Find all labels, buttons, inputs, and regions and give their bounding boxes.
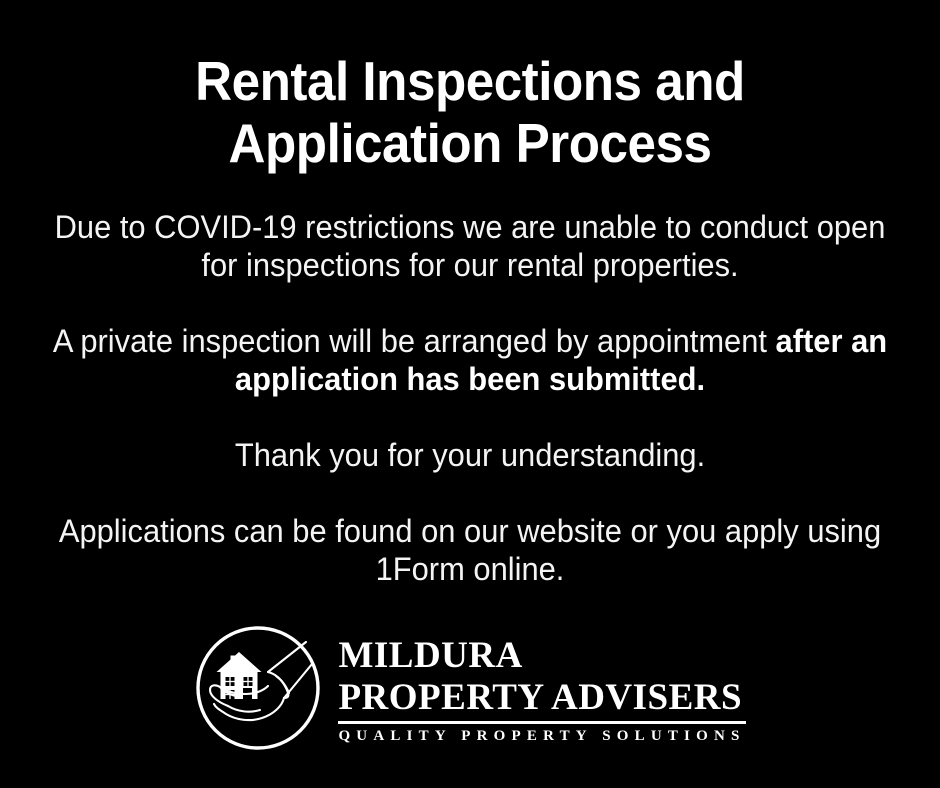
paragraph-private-inspection-regular: A private inspection will be arranged by…: [53, 323, 776, 359]
hand-holding-house-circle-icon: [194, 624, 322, 752]
poster-canvas: Rental Inspections and Application Proce…: [0, 0, 940, 788]
title-line-1: Rental Inspections and: [89, 50, 852, 112]
title-line-2: Application Process: [89, 112, 852, 174]
logo-divider: [338, 721, 745, 724]
body-copy: Due to COVID-19 restrictions we are unab…: [30, 208, 910, 588]
company-logo: MILDURA PROPERTY ADVISERS QUALITY PROPER…: [0, 624, 940, 752]
paragraph-covid-restrictions: Due to COVID-19 restrictions we are unab…: [45, 208, 894, 284]
paragraph-private-inspection: A private inspection will be arranged by…: [45, 322, 894, 398]
logo-name-line-2: PROPERTY ADVISERS: [338, 679, 742, 716]
page-title: Rental Inspections and Application Proce…: [60, 50, 880, 174]
paragraph-thank-you: Thank you for your understanding.: [45, 436, 894, 474]
logo-name-line-1: MILDURA: [338, 637, 522, 674]
logo-tagline: QUALITY PROPERTY SOLUTIONS: [338, 728, 745, 745]
paragraph-applications: Applications can be found on our website…: [45, 512, 894, 588]
logo-wordmark: MILDURA PROPERTY ADVISERS QUALITY PROPER…: [338, 631, 745, 745]
